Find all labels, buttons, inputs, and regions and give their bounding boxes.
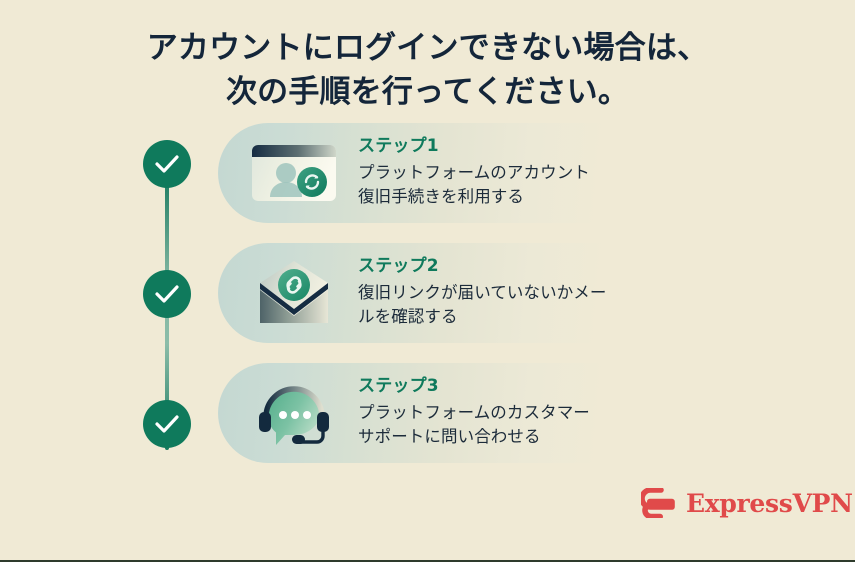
timeline-node-step-1: [143, 140, 191, 188]
step-2-label: ステップ2: [358, 254, 678, 280]
expressvpn-wordmark: ExpressVPN: [686, 491, 853, 516]
expressvpn-e-mark-icon: [641, 488, 677, 518]
step-card-1: ステップ1 プラットフォームのアカウント 復旧手続きを利用する: [218, 123, 688, 223]
step-2-description-line-2: ルを確認する: [358, 305, 678, 330]
timeline-node-step-2: [143, 270, 191, 318]
page-title: アカウントにログインできない場合は、 次の手順を行ってください。: [0, 26, 855, 114]
step-card-2-text: ステップ2 復旧リンクが届いていないかメー ルを確認する: [358, 254, 678, 330]
check-icon: [154, 283, 180, 305]
infographic-canvas: アカウントにログインできない場合は、 次の手順を行ってください。: [0, 0, 855, 562]
envelope-link-icon: [246, 257, 342, 329]
step-card-3-text: ステップ3 プラットフォームのカスタマー サポートに問い合わせる: [358, 374, 678, 450]
step-3-description-line-2: サポートに問い合わせる: [358, 425, 678, 450]
step-card-3: ステップ3 プラットフォームのカスタマー サポートに問い合わせる: [218, 363, 688, 463]
timeline-node-step-3: [143, 400, 191, 448]
step-1-description-line-1: プラットフォームのアカウント: [358, 161, 678, 186]
id-card-recovery-icon: [246, 137, 342, 209]
page-title-line-2: 次の手順を行ってください。: [0, 70, 855, 114]
steps-timeline: [143, 140, 191, 450]
step-3-label: ステップ3: [358, 374, 678, 400]
check-icon: [154, 413, 180, 435]
step-1-label: ステップ1: [358, 134, 678, 160]
check-icon: [154, 153, 180, 175]
headset-chat-icon: [246, 377, 342, 449]
step-2-description-line-1: 復旧リンクが届いていないかメー: [358, 281, 678, 306]
step-card-2: ステップ2 復旧リンクが届いていないかメー ルを確認する: [218, 243, 688, 343]
page-title-line-1: アカウントにログインできない場合は、: [0, 26, 855, 70]
expressvpn-logo: ExpressVPN: [641, 482, 801, 524]
step-3-description-line-1: プラットフォームのカスタマー: [358, 401, 678, 426]
step-1-description-line-2: 復旧手続きを利用する: [358, 185, 678, 210]
step-card-1-text: ステップ1 プラットフォームのアカウント 復旧手続きを利用する: [358, 134, 678, 210]
